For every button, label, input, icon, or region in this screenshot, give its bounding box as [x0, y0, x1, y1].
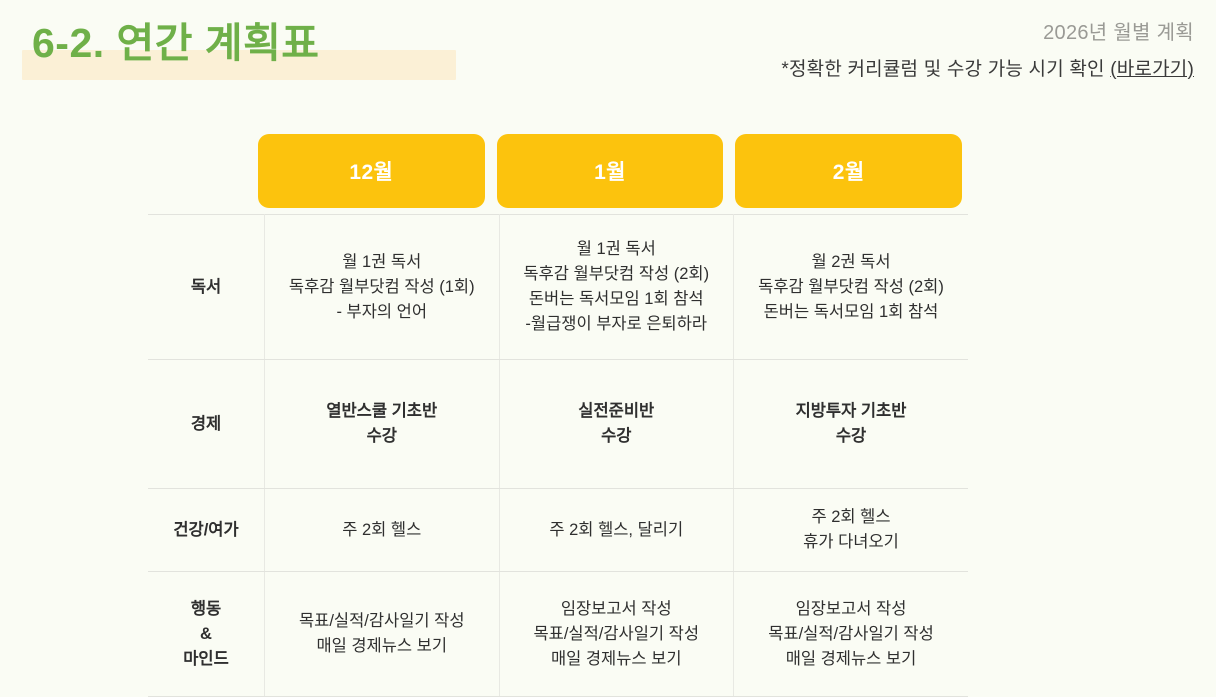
month-pill-january[interactable]: 1월 — [497, 134, 724, 208]
month-header-row: 12월 1월 2월 — [148, 134, 968, 208]
title-block: 6-2. 연간 계획표 — [22, 12, 328, 74]
month-header-cell-2: 1월 — [491, 134, 730, 208]
month-header-cell-1: 12월 — [252, 134, 491, 208]
table-row-health: 건강/여가 주 2회 헬스 주 2회 헬스, 달리기 주 2회 헬스 휴가 다녀… — [148, 489, 968, 572]
header-right-block: 2026년 월별 계획 *정확한 커리큘럼 및 수강 가능 시기 확인 (바로가… — [781, 20, 1194, 82]
month-header-cell-3: 2월 — [729, 134, 968, 208]
cell-action-january: 임장보고서 작성 목표/실적/감사일기 작성 매일 경제뉴스 보기 — [499, 572, 734, 697]
cell-health-january: 주 2회 헬스, 달리기 — [499, 489, 734, 572]
month-header-spacer — [148, 134, 252, 208]
row-label-action-mind: 행동 & 마인드 — [148, 572, 265, 697]
cell-economy-january: 실전준비반 수강 — [499, 360, 734, 489]
cell-health-december: 주 2회 헬스 — [265, 489, 500, 572]
row-label-reading: 독서 — [148, 215, 265, 360]
cell-economy-february: 지방투자 기초반 수강 — [734, 360, 969, 489]
table-row-economy: 경제 열반스쿨 기초반 수강 실전준비반 수강 지방투자 기초반 수강 — [148, 360, 968, 489]
cell-action-december: 목표/실적/감사일기 작성 매일 경제뉴스 보기 — [265, 572, 500, 697]
cell-action-february: 임장보고서 작성 목표/실적/감사일기 작성 매일 경제뉴스 보기 — [734, 572, 969, 697]
table-row-action-mind: 행동 & 마인드 목표/실적/감사일기 작성 매일 경제뉴스 보기 임장보고서 … — [148, 572, 968, 697]
curriculum-note-text: *정확한 커리큘럼 및 수강 가능 시기 확인 — [781, 59, 1110, 80]
cell-reading-january: 월 1권 독서 독후감 월부닷컴 작성 (2회) 돈버는 독서모임 1회 참석 … — [499, 215, 734, 360]
plan-period-label: 2026년 월별 계획 — [781, 20, 1194, 46]
curriculum-note: *정확한 커리큘럼 및 수강 가능 시기 확인 (바로가기) — [781, 58, 1194, 82]
page-header: 6-2. 연간 계획표 2026년 월별 계획 *정확한 커리큘럼 및 수강 가… — [0, 0, 1216, 112]
annual-plan-table: 독서 월 1권 독서 독후감 월부닷컴 작성 (1회) - 부자의 언어 월 1… — [148, 214, 968, 697]
month-pill-december[interactable]: 12월 — [258, 134, 485, 208]
month-pill-february[interactable]: 2월 — [735, 134, 962, 208]
cell-health-february: 주 2회 헬스 휴가 다녀오기 — [734, 489, 969, 572]
table-row-reading: 독서 월 1권 독서 독후감 월부닷컴 작성 (1회) - 부자의 언어 월 1… — [148, 215, 968, 360]
cell-economy-december: 열반스쿨 기초반 수강 — [265, 360, 500, 489]
page-title: 6-2. 연간 계획표 — [22, 12, 328, 74]
curriculum-link[interactable]: (바로가기) — [1110, 59, 1194, 80]
cell-reading-december: 월 1권 독서 독후감 월부닷컴 작성 (1회) - 부자의 언어 — [265, 215, 500, 360]
row-label-health: 건강/여가 — [148, 489, 265, 572]
cell-reading-february: 월 2권 독서 독후감 월부닷컴 작성 (2회) 돈버는 독서모임 1회 참석 — [734, 215, 969, 360]
row-label-economy: 경제 — [148, 360, 265, 489]
